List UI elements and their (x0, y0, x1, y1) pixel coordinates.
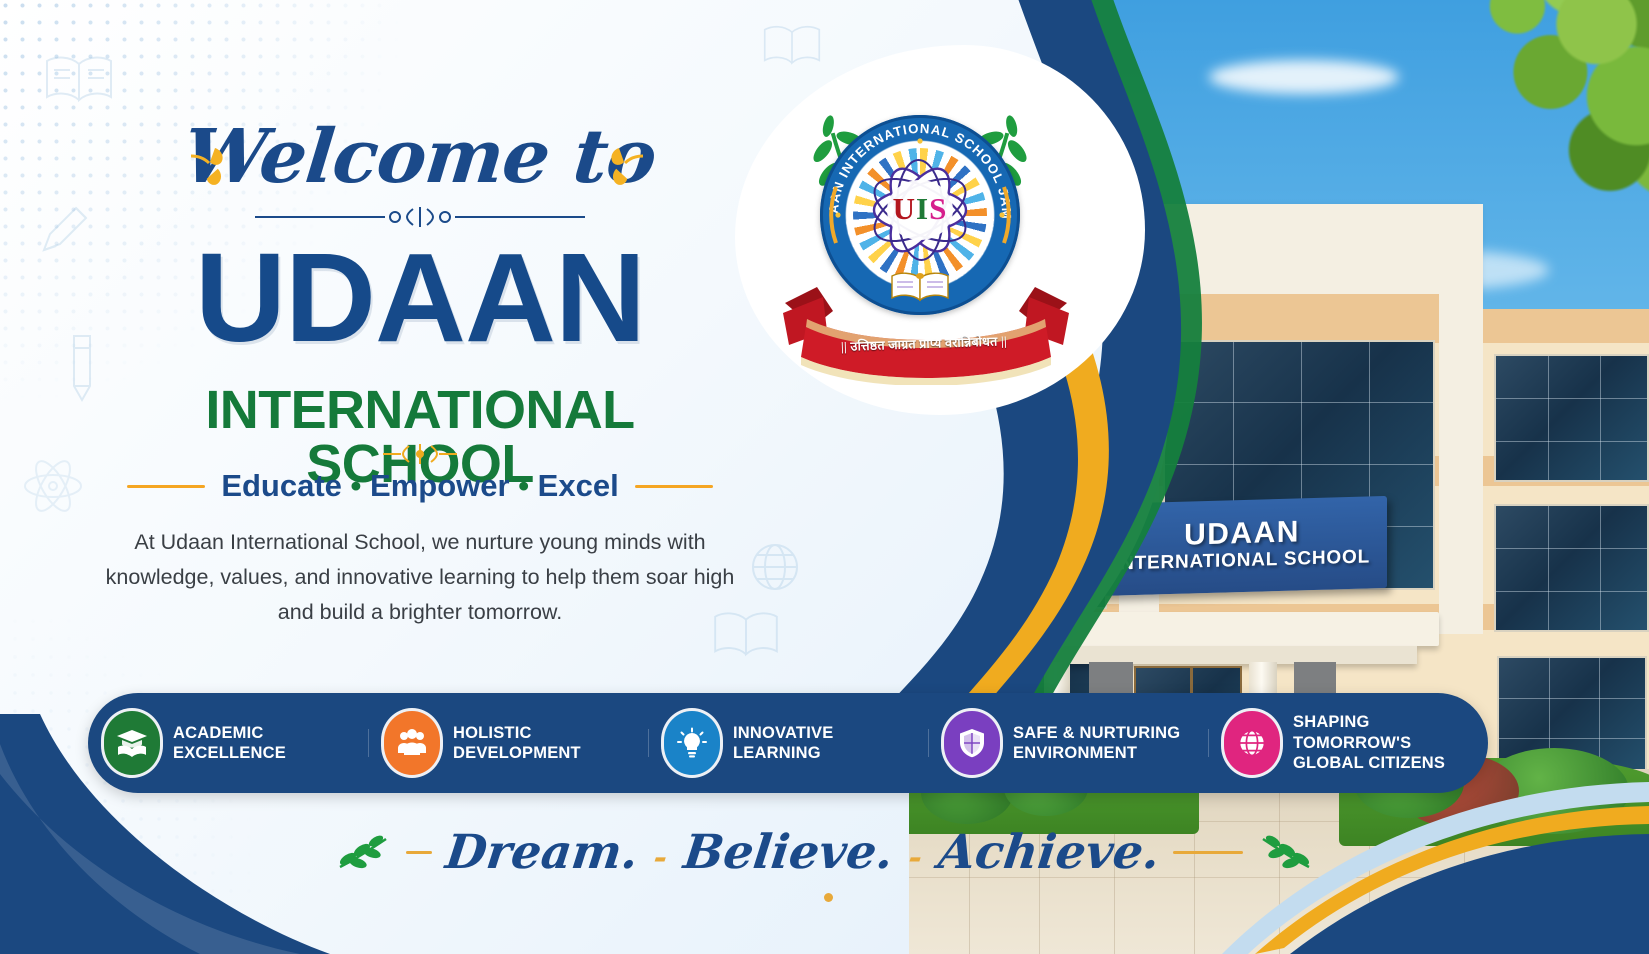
building-sign-line2: INTERNATIONAL SCHOOL (1114, 546, 1370, 577)
feature-label-line1: HOLISTIC (453, 723, 581, 743)
feature-label-line1: ACADEMIC (173, 723, 286, 743)
feature-label-line2: EXCELLENCE (173, 743, 286, 763)
features-bar: ACADEMIC EXCELLENCE HOLISTIC DEVELOPMENT (88, 693, 1488, 793)
leaf-sprig-left-icon (334, 833, 392, 873)
crest-monogram: UIS (853, 191, 987, 227)
leaf-sprig-right-icon (1257, 833, 1315, 873)
motto-rule-left (406, 851, 432, 854)
feature-label-line2: ENVIRONMENT (1013, 743, 1180, 763)
feature-label-line2: LEARNING (733, 743, 833, 763)
motto-rule-right (1173, 851, 1243, 854)
bottom-motto: Dream. - Believe. - Achieve. (442, 825, 1162, 880)
feature-item-safe-nurturing-environment[interactable]: SAFE & NURTURING ENVIRONMENT (928, 711, 1208, 775)
monogram-letter-s: S (929, 191, 947, 226)
sparkle-right-icon (595, 140, 649, 194)
feature-label-academic-excellence: ACADEMIC EXCELLENCE (173, 723, 286, 764)
tagline-row: Educate • Empower • Excel (95, 466, 745, 506)
intro-paragraph: At Udaan International School, we nurtur… (100, 525, 740, 629)
ornament-divider-top (95, 205, 745, 229)
atom-doodle-icon (22, 455, 84, 522)
open-book-doodle-icon (760, 22, 824, 73)
feature-label-shaping-tomorrows-global-citizens: SHAPING TOMORROW'S GLOBAL CITIZENS (1293, 712, 1480, 773)
feature-item-holistic-development[interactable]: HOLISTIC DEVELOPMENT (368, 711, 648, 775)
monogram-letter-i: I (916, 191, 929, 226)
feature-label-line1: SAFE & NURTURING (1013, 723, 1180, 743)
pen-doodle-icon (36, 200, 94, 265)
feature-label-holistic-development: HOLISTIC DEVELOPMENT (453, 723, 581, 764)
bottom-motto-row: Dream. - Believe. - Achieve. (0, 815, 1649, 890)
feature-item-academic-excellence[interactable]: ACADEMIC EXCELLENCE (88, 711, 368, 775)
feature-item-shaping-tomorrows-global-citizens[interactable]: SHAPING TOMORROW'S GLOBAL CITIZENS (1208, 711, 1488, 775)
building-signboard: UDAAN INTERNATIONAL SCHOOL (1097, 496, 1387, 596)
globe-icon (1224, 711, 1280, 775)
tagline: Educate • Empower • Excel (221, 468, 618, 504)
globe-doodle-icon (748, 540, 802, 599)
lightbulb-idea-icon (664, 711, 720, 775)
feature-label-safe-nurturing-environment: SAFE & NURTURING ENVIRONMENT (1013, 723, 1180, 764)
people-group-icon (384, 711, 440, 775)
feature-label-line1: INNOVATIVE (733, 723, 833, 743)
school-name: UDAAN (95, 230, 745, 366)
monogram-letter-u: U (893, 191, 916, 226)
feature-label-innovative-learning: INNOVATIVE LEARNING (733, 723, 833, 764)
shield-icon (944, 711, 1000, 775)
graduation-cap-book-icon (104, 711, 160, 775)
school-crest-logo: UDAAN INTERNATIONAL SCHOOL JAMUI EDUCATE… (775, 95, 1065, 385)
building-sign-line1: UDAAN (1184, 518, 1300, 551)
ornament-divider-small (95, 443, 745, 465)
book-doodle-icon (42, 52, 116, 111)
feature-item-innovative-learning[interactable]: INNOVATIVE LEARNING (648, 711, 928, 775)
welcome-heading: Welcome to (180, 120, 659, 194)
feature-label-line2: DEVELOPMENT (453, 743, 581, 763)
feature-label-line1: SHAPING TOMORROW'S (1293, 712, 1480, 753)
tagline-rule-right (635, 485, 713, 488)
feature-label-line2: GLOBAL CITIZENS (1293, 753, 1480, 773)
tagline-rule-left (127, 485, 205, 488)
sparkle-left-icon (185, 140, 239, 194)
school-welcome-banner: UDAAN INTERNATIONAL SCHOOL (0, 0, 1649, 954)
motto-accent-dot (824, 893, 833, 902)
